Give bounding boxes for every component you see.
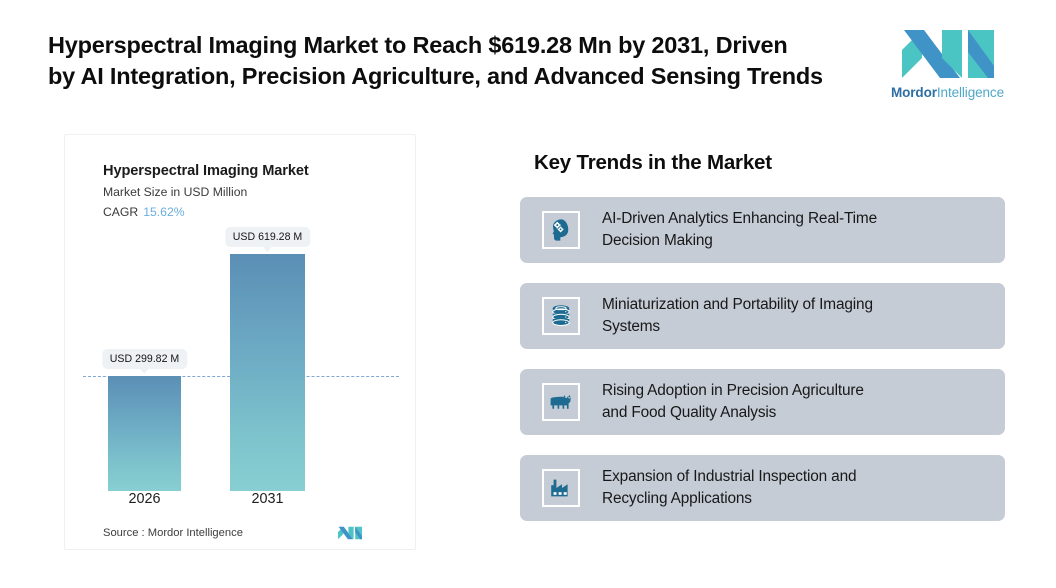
brand-wordmark: MordorIntelligence xyxy=(891,85,1004,100)
database-stack-icon xyxy=(548,303,574,329)
chart-plot-area: USD 299.82 M USD 619.28 M xyxy=(65,231,417,491)
chart-subtitle: Market Size in USD Million xyxy=(103,185,247,199)
market-size-chart-card: Hyperspectral Imaging Market Market Size… xyxy=(64,134,416,550)
mordor-logo-mark-icon xyxy=(898,26,998,82)
ai-head-gears-icon xyxy=(548,217,574,243)
cagr-value: 15.62% xyxy=(143,205,184,219)
mordor-intelligence-logo: MordorIntelligence xyxy=(880,26,1015,100)
brand-name-bold: Mordor xyxy=(891,85,937,100)
chart-title: Hyperspectral Imaging Market xyxy=(103,163,309,179)
cow-livestock-icon xyxy=(548,389,574,415)
trend-card-list: AI-Driven Analytics Enhancing Real-Time … xyxy=(520,197,1020,521)
chart-cagr: CAGR15.62% xyxy=(103,205,185,219)
value-label-2026: USD 299.82 M xyxy=(102,349,187,369)
icon-tile xyxy=(542,297,580,335)
trend-card-text: Expansion of Industrial Inspection and R… xyxy=(602,466,856,510)
trend-text-line-2: Decision Making xyxy=(602,232,713,249)
bar-2026 xyxy=(108,376,181,491)
brand-name-light: Intelligence xyxy=(937,85,1004,100)
chart-x-axis: 2026 2031 xyxy=(65,491,417,521)
trend-card-text: Miniaturization and Portability of Imagi… xyxy=(602,294,873,338)
trend-text-line-2: and Food Quality Analysis xyxy=(602,404,776,421)
page-title-line-2: by AI Integration, Precision Agriculture… xyxy=(48,61,866,92)
trend-text-line-1: Expansion of Industrial Inspection and xyxy=(602,468,856,485)
icon-tile xyxy=(542,383,580,421)
x-tick-2026: 2026 xyxy=(128,491,160,507)
value-label-2031: USD 619.28 M xyxy=(225,227,310,247)
trend-card-miniaturization[interactable]: Miniaturization and Portability of Imagi… xyxy=(520,283,1005,349)
trend-text-line-2: Recycling Applications xyxy=(602,490,752,507)
chart-footer: Source : Mordor Intelligence xyxy=(65,525,417,551)
key-trends-panel: Key Trends in the Market xyxy=(520,134,1020,541)
chart-source-label: Source : Mordor Intelligence xyxy=(103,527,243,539)
x-tick-2031: 2031 xyxy=(251,491,283,507)
page-title-line-1: Hyperspectral Imaging Market to Reach $6… xyxy=(48,30,866,61)
trend-text-line-1: Rising Adoption in Precision Agriculture xyxy=(602,382,864,399)
bar-2031 xyxy=(230,254,305,491)
page-title: Hyperspectral Imaging Market to Reach $6… xyxy=(48,30,866,93)
mordor-logo-mark-small-icon xyxy=(337,525,363,541)
trend-card-text: AI-Driven Analytics Enhancing Real-Time … xyxy=(602,208,877,252)
trend-text-line-2: Systems xyxy=(602,318,660,335)
trend-card-ai-driven-analytics[interactable]: AI-Driven Analytics Enhancing Real-Time … xyxy=(520,197,1005,263)
trend-text-line-1: AI-Driven Analytics Enhancing Real-Time xyxy=(602,210,877,227)
cagr-label: CAGR xyxy=(103,205,138,219)
trend-text-line-1: Miniaturization and Portability of Imagi… xyxy=(602,296,873,313)
trend-card-precision-agriculture[interactable]: Rising Adoption in Precision Agriculture… xyxy=(520,369,1005,435)
trend-card-industrial-inspection[interactable]: Expansion of Industrial Inspection and R… xyxy=(520,455,1005,521)
trend-card-text: Rising Adoption in Precision Agriculture… xyxy=(602,380,864,424)
icon-tile xyxy=(542,211,580,249)
icon-tile xyxy=(542,469,580,507)
factory-industry-icon xyxy=(548,475,574,501)
panel-title: Key Trends in the Market xyxy=(534,151,1020,175)
